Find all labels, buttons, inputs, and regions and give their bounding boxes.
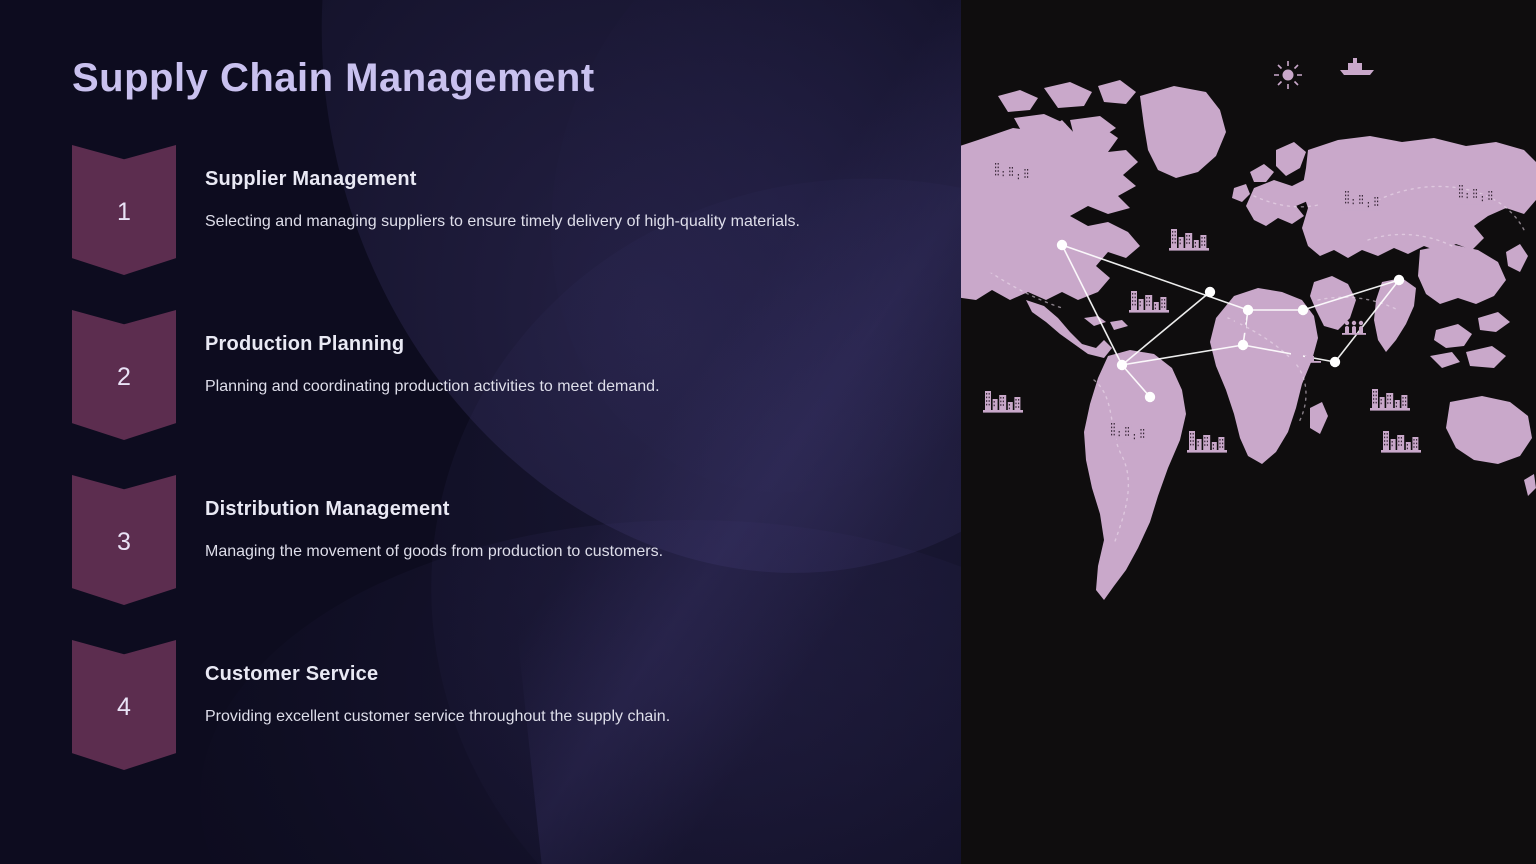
map-node-west-africa-hub[interactable] — [1205, 287, 1215, 297]
satellite-icon-arctic — [1274, 61, 1302, 89]
map-node-south-america-hub[interactable] — [1117, 360, 1127, 370]
world-map-image — [961, 0, 1536, 864]
people-icon-usa-central — [1020, 259, 1044, 273]
step-number-label: 4 — [117, 693, 131, 722]
list-item[interactable]: 2 Production Planning Planning and coord… — [0, 310, 961, 475]
step-description: Managing the movement of goods from prod… — [205, 537, 895, 567]
step-text-block: Production Planning Planning and coordin… — [205, 333, 905, 402]
people-icon-usa-west — [979, 259, 1003, 273]
step-number-chevron-2[interactable]: 2 — [72, 310, 176, 440]
page-title: Supply Chain Management — [72, 56, 595, 101]
step-text-block: Customer Service Providing excellent cus… — [205, 663, 905, 732]
steps-list: 1 Supplier Management Selecting and mana… — [0, 145, 961, 805]
people-icon-arabia — [1342, 321, 1366, 335]
step-number-chevron-1[interactable]: 1 — [72, 145, 176, 275]
step-number-label: 1 — [117, 198, 131, 227]
step-title: Supplier Management — [205, 168, 905, 191]
map-node-horn-africa-hub[interactable] — [1330, 357, 1340, 367]
step-number-label: 2 — [117, 363, 131, 392]
step-text-block: Supplier Management Selecting and managi… — [205, 168, 905, 237]
map-node-central-asia-hub[interactable] — [1394, 275, 1404, 285]
step-number-chevron-3[interactable]: 3 — [72, 475, 176, 605]
slide-root: Supply Chain Management 1 Supplier Manag… — [0, 0, 1536, 864]
map-node-north-africa-hub[interactable] — [1243, 305, 1253, 315]
step-title: Customer Service — [205, 663, 905, 686]
map-node-mid-atlantic-hub[interactable] — [1145, 392, 1155, 402]
step-text-block: Distribution Management Managing the mov… — [205, 498, 905, 567]
left-content-panel: Supply Chain Management 1 Supplier Manag… — [0, 0, 961, 864]
people-icon-canada — [1018, 199, 1042, 213]
people-icon-asia — [1469, 263, 1493, 277]
map-node-north-america-hub[interactable] — [1057, 240, 1067, 250]
right-map-panel — [961, 0, 1536, 864]
list-item[interactable]: 1 Supplier Management Selecting and mana… — [0, 145, 961, 310]
map-node-red-sea-hub[interactable] — [1298, 305, 1308, 315]
step-title: Distribution Management — [205, 498, 905, 521]
step-number-chevron-4[interactable]: 4 — [72, 640, 176, 770]
step-description: Selecting and managing suppliers to ensu… — [205, 207, 895, 237]
world-map-svg — [961, 0, 1536, 864]
step-description: Planning and coordinating production act… — [205, 372, 895, 402]
list-item[interactable]: 3 Distribution Management Managing the m… — [0, 475, 961, 640]
list-item[interactable]: 4 Customer Service Providing excellent c… — [0, 640, 961, 805]
step-number-label: 3 — [117, 528, 131, 557]
map-node-sahel-hub[interactable] — [1238, 340, 1248, 350]
step-title: Production Planning — [205, 333, 905, 356]
people-icon-sahara — [1225, 319, 1249, 333]
step-description: Providing excellent customer service thr… — [205, 702, 895, 732]
